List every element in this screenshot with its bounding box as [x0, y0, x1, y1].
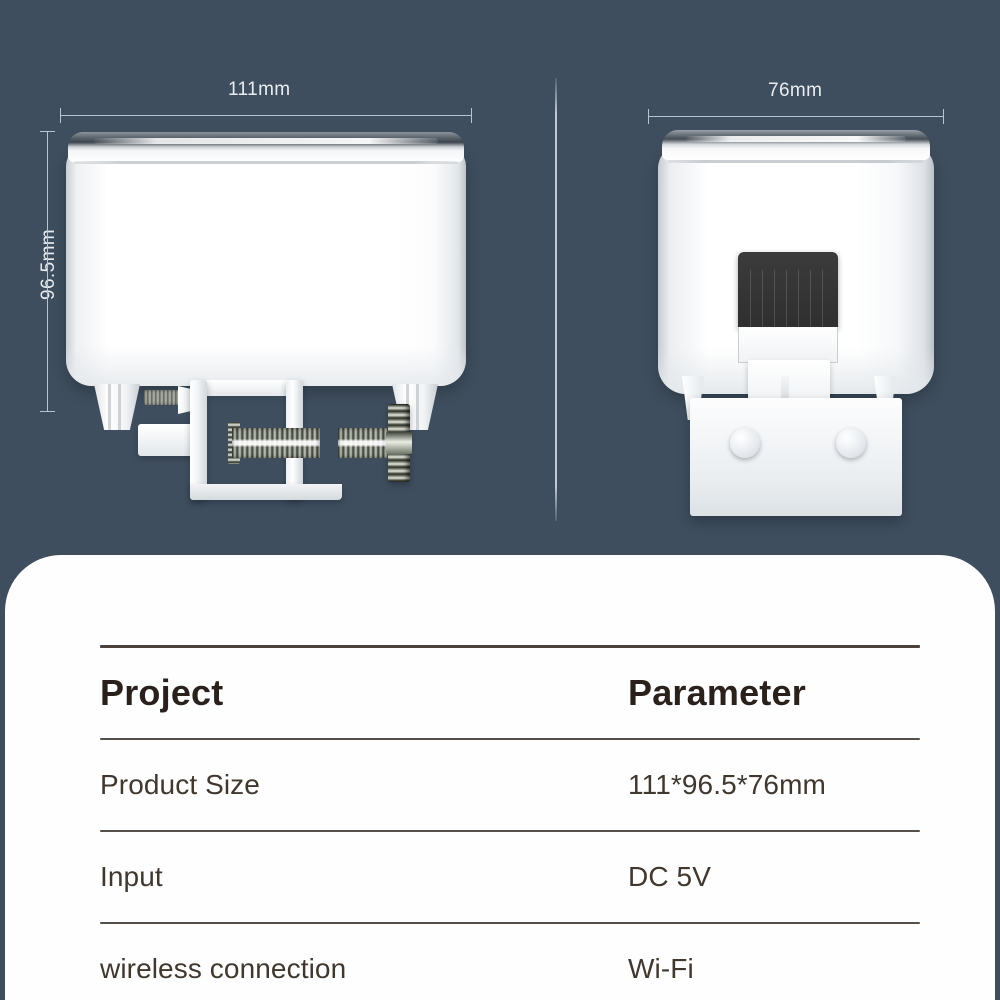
row-value-product-size: 111*96.5*76mm	[628, 769, 826, 800]
dimension-label-height-front: 96.5mm	[38, 229, 60, 300]
column-header-project: Project	[100, 672, 223, 713]
small-screw-icon	[144, 390, 180, 405]
device-top-trim-side	[662, 130, 930, 160]
row-label-wireless-connection: wireless connection	[100, 953, 346, 984]
dimension-label-width-front: 111mm	[228, 79, 291, 101]
specification-card: Project Parameter Product Size 111*96.5*…	[5, 555, 995, 1000]
bolt-knob-highlight	[386, 432, 412, 454]
table-row: Product Size 111*96.5*76mm	[100, 740, 920, 830]
bolt-thread-inner	[232, 428, 320, 458]
column-header-parameter: Parameter	[628, 672, 806, 713]
view-divider	[555, 78, 557, 521]
row-value-input: DC 5V	[628, 861, 711, 892]
row-label-product-size: Product Size	[100, 769, 260, 800]
dimension-label-width-side: 76mm	[768, 80, 822, 102]
product-showcase: 111mm 96.5mm 76mm	[0, 0, 1000, 560]
row-value-wireless-connection: Wi-Fi	[628, 953, 694, 984]
device-trim-shadow-front	[74, 161, 458, 164]
device-foot-left	[94, 384, 140, 430]
mount-post-left	[730, 428, 760, 458]
specification-table: Project Parameter Product Size 111*96.5*…	[100, 645, 920, 1000]
device-top-trim-front	[68, 132, 464, 162]
table-header-row: Project Parameter	[100, 648, 920, 738]
product-front-view	[60, 128, 472, 468]
white-panel-insert	[738, 327, 838, 363]
clamp-handle-stub	[138, 424, 196, 456]
device-body-front	[66, 146, 466, 386]
product-side-view	[648, 128, 944, 518]
table-row: wireless connection Wi-Fi	[100, 924, 920, 1000]
dimension-line-height-front	[47, 131, 48, 412]
dimension-line-width-side	[648, 116, 944, 117]
device-trim-shadow-side	[668, 160, 924, 163]
mount-plate	[690, 398, 902, 516]
product-spec-image: 111mm 96.5mm 76mm	[0, 0, 1000, 1000]
row-label-input: Input	[100, 861, 163, 892]
table-row: Input DC 5V	[100, 832, 920, 922]
dark-vent-panel	[738, 252, 838, 328]
dimension-line-width-front	[60, 115, 472, 116]
mount-post-right	[836, 428, 866, 458]
